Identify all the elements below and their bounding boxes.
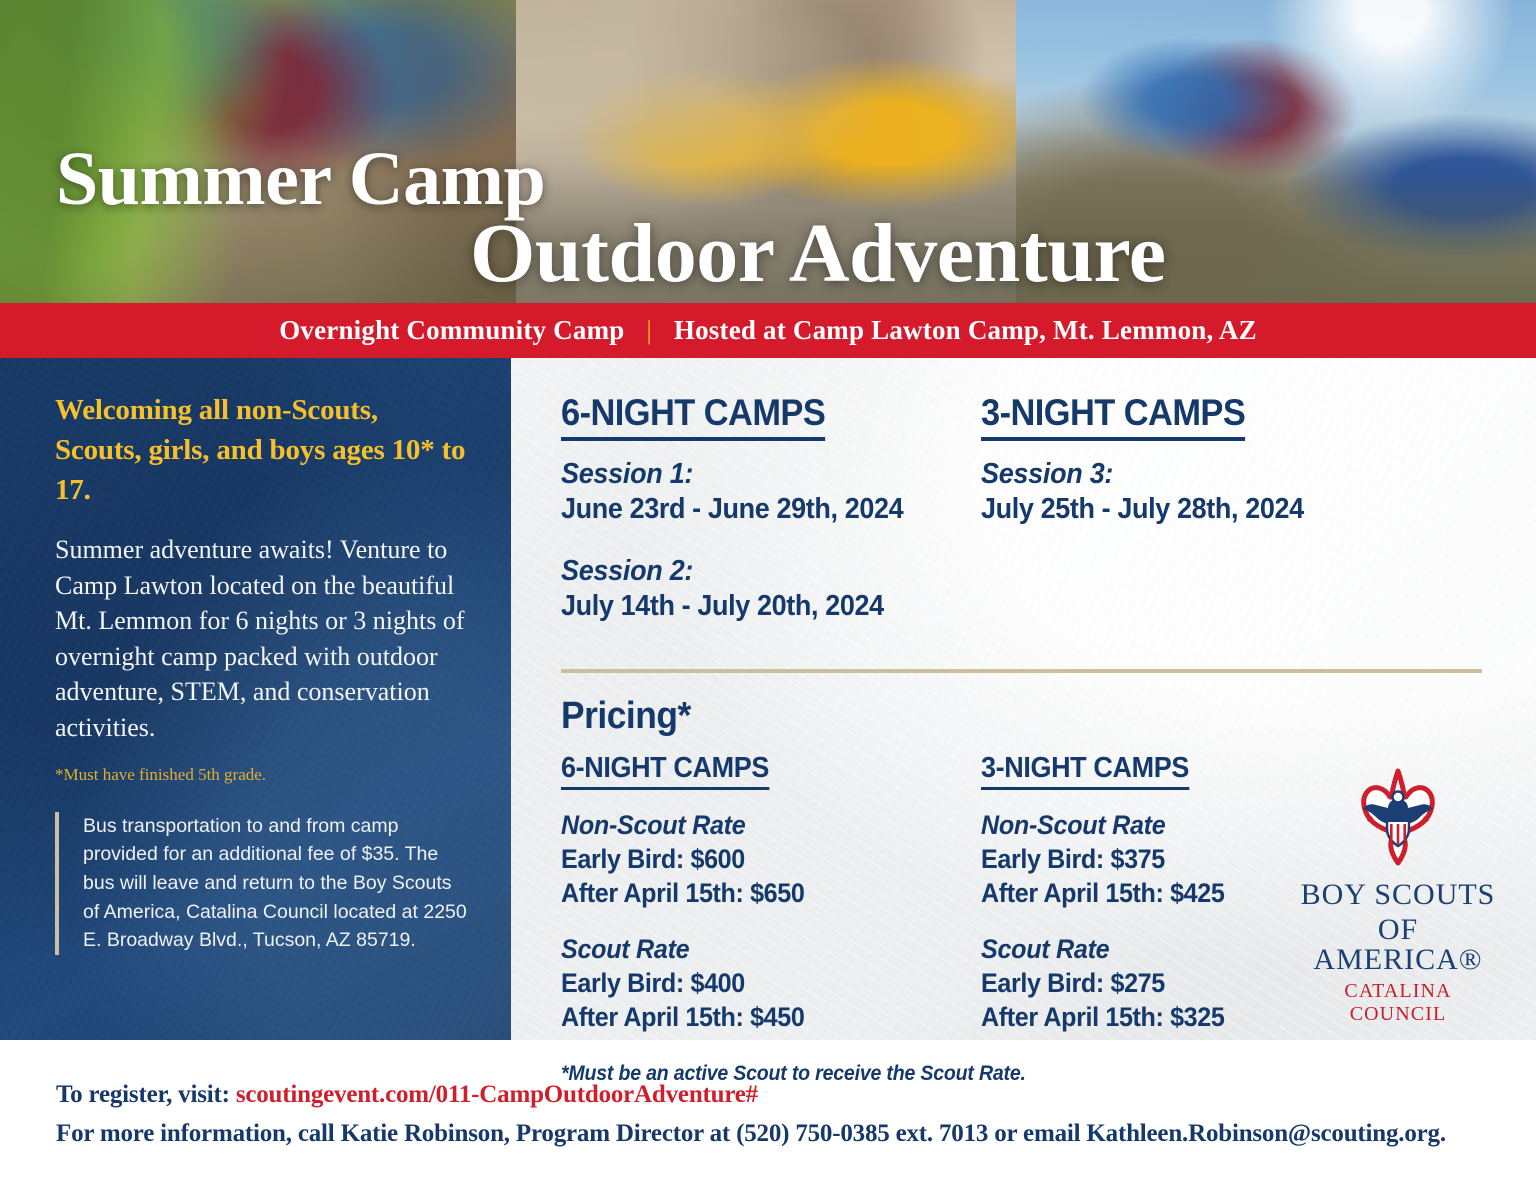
- info-sidebar: Welcoming all non-Scouts, Scouts, girls,…: [0, 358, 511, 1040]
- rate-early-bird: Early Bird: $600: [561, 842, 952, 876]
- rate-after-deadline: After April 15th: $650: [561, 876, 952, 910]
- pricing-6-night-column: 6-NIGHT CAMPS Non-Scout Rate Early Bird:…: [561, 752, 981, 1056]
- main-panel: 6-NIGHT CAMPS Session 1: June 23rd - Jun…: [511, 358, 1536, 1040]
- hero-photo-scouts-at-riverbank: [516, 0, 1016, 303]
- session-label: Session 1:: [561, 457, 952, 492]
- rate-early-bird: Early Bird: $400: [561, 966, 952, 1000]
- sidebar-bus-callout: Bus transportation to and from camp prov…: [55, 812, 467, 955]
- sessions-columns: 6-NIGHT CAMPS Session 1: June 23rd - Jun…: [561, 392, 1492, 651]
- bsa-wordmark-line1: BOY SCOUTS: [1298, 880, 1498, 911]
- sidebar-description: Summer adventure awaits! Venture to Camp…: [55, 532, 467, 746]
- session-label: Session 2:: [561, 554, 952, 589]
- pricing-3-night-title: 3-NIGHT CAMPS: [981, 752, 1189, 790]
- session-dates: July 14th - July 20th, 2024: [561, 589, 952, 624]
- bsa-wordmark-line2: OF AMERICA®: [1298, 915, 1498, 976]
- rate-after-deadline: After April 15th: $450: [561, 1000, 952, 1034]
- pricing-6-night-title: 6-NIGHT CAMPS: [561, 752, 769, 790]
- session-dates: July 25th - July 28th, 2024: [981, 492, 1456, 527]
- sessions-3-night-title: 3-NIGHT CAMPS: [981, 392, 1245, 441]
- fleur-de-lis-eagle-emblem-icon: [1346, 767, 1450, 871]
- sessions-3-night-column: 3-NIGHT CAMPS Session 3: July 25th - Jul…: [981, 392, 1492, 651]
- session-label: Session 3:: [981, 457, 1456, 492]
- bsa-logo: BOY SCOUTS OF AMERICA® CATALINA COUNCIL: [1298, 767, 1498, 1026]
- sidebar-grade-note: *Must have finished 5th grade.: [55, 764, 467, 786]
- hero-banner: Summer Camp Outdoor Adventure: [0, 0, 1536, 303]
- body-row: Welcoming all non-Scouts, Scouts, girls,…: [0, 358, 1536, 1040]
- subtitle-banner: Overnight Community Camp | Hosted at Cam…: [0, 303, 1536, 358]
- pricing-heading: Pricing*: [561, 695, 1427, 738]
- sessions-6-night-title: 6-NIGHT CAMPS: [561, 392, 825, 441]
- camp-flyer: Summer Camp Outdoor Adventure Overnight …: [0, 0, 1536, 1187]
- bsa-council-name: CATALINA COUNCIL: [1298, 980, 1498, 1026]
- sidebar-heading: Welcoming all non-Scouts, Scouts, girls,…: [55, 390, 467, 510]
- rate-name: Non-Scout Rate: [561, 808, 952, 842]
- footer-register-label: To register, visit:: [56, 1081, 230, 1108]
- hero-photo-scouts-on-mountain-rocks: [1016, 0, 1536, 303]
- rate-name: Scout Rate: [561, 932, 952, 966]
- banner-left-text: Overnight Community Camp: [279, 315, 624, 346]
- sessions-6-night-column: 6-NIGHT CAMPS Session 1: June 23rd - Jun…: [561, 392, 981, 651]
- pricing-scout-note: *Must be an active Scout to receive the …: [561, 1062, 1427, 1086]
- rate-block: Non-Scout Rate Early Bird: $600 After Ap…: [561, 808, 981, 910]
- hero-photo-scouts-hiking-forest: [0, 0, 516, 303]
- section-divider: [561, 669, 1482, 673]
- banner-separator: |: [647, 316, 652, 346]
- rate-block: Scout Rate Early Bird: $400 After April …: [561, 932, 981, 1034]
- session-dates: June 23rd - June 29th, 2024: [561, 492, 952, 527]
- footer-contact-line: For more information, call Katie Robinso…: [56, 1115, 1536, 1154]
- banner-right-text: Hosted at Camp Lawton Camp, Mt. Lemmon, …: [674, 315, 1257, 346]
